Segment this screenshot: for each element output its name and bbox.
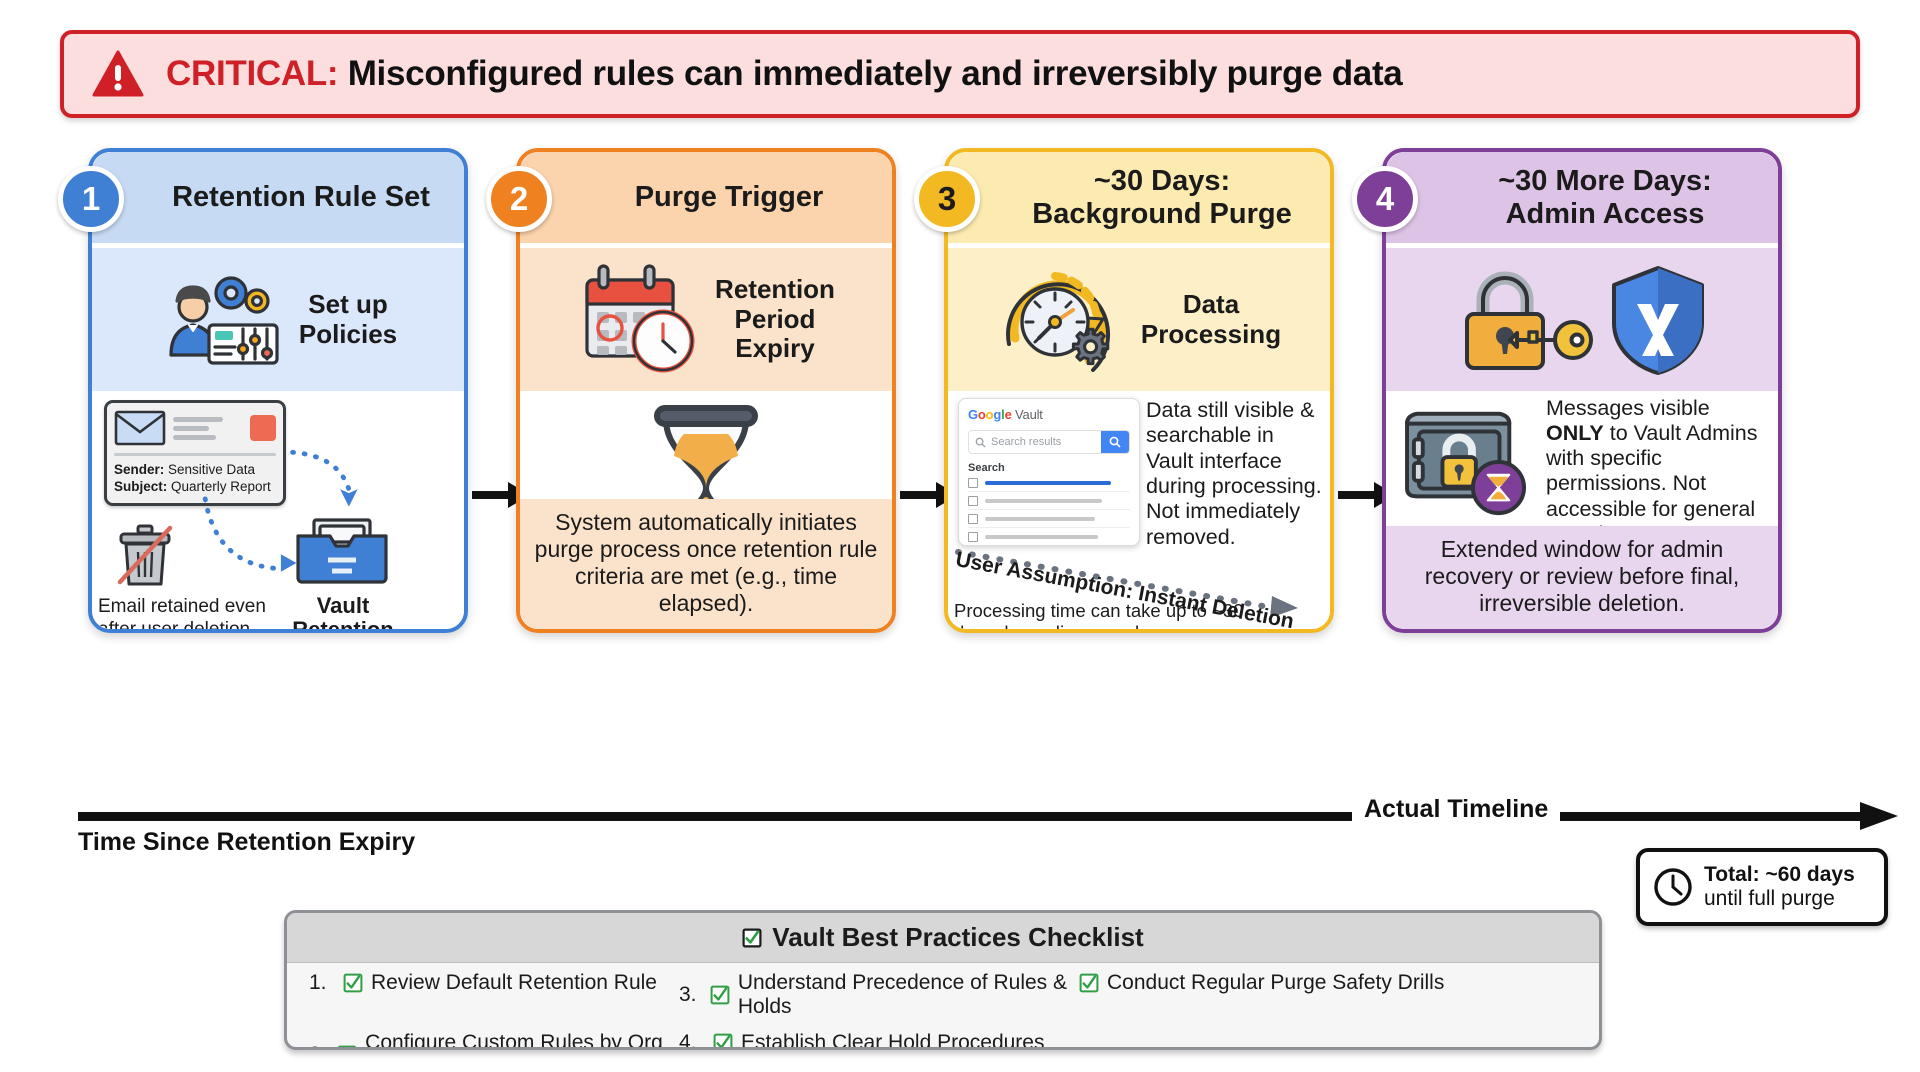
checklist-grid: 1. Review Default Retention Rule 3.: [287, 963, 1599, 1050]
panel-4-note-part1: Messages visible: [1546, 396, 1710, 420]
vault-search-button[interactable]: [1101, 431, 1129, 453]
panel-3-mid: DataProcessing: [948, 248, 1330, 396]
checkbox-checked-icon[interactable]: [713, 1033, 733, 1050]
trash-disabled-icon: [114, 522, 176, 588]
panel-4-note-emphasis: ONLY: [1546, 421, 1604, 445]
checklist-cell[interactable]: Conduct Regular Purge Safety Drills: [1079, 971, 1444, 995]
admin-user-gears-icon: [159, 267, 287, 373]
email-line: [173, 426, 209, 431]
calendar-clock-icon: [577, 262, 703, 378]
best-practices-checklist: Vault Best Practices Checklist 1. Review…: [284, 910, 1602, 1050]
critical-banner: CRITICAL: Misconfigured rules can immedi…: [60, 30, 1860, 118]
total-duration-title: Total: ~60 days: [1704, 863, 1855, 886]
panel-4-title: ~30 More Days:Admin Access: [1386, 152, 1778, 248]
clock-icon: [1652, 866, 1694, 908]
row-checkbox[interactable]: [968, 496, 978, 506]
banner-message: Misconfigured rules can immediately and …: [338, 54, 1402, 93]
email-line: [173, 435, 216, 440]
vault-result-row[interactable]: [968, 492, 1130, 510]
total-duration-sub: until full purge: [1704, 887, 1835, 910]
timeline-left-label: Time Since Retention Expiry: [78, 828, 415, 857]
panel-2-mid-label: RetentionPeriodExpiry: [715, 275, 835, 364]
checklist-item-number: 3.: [679, 983, 702, 1007]
panel-3-title: ~30 Days:Background Purge: [948, 152, 1330, 248]
panel-4-foot: Extended window for admin recovery or re…: [1386, 526, 1778, 629]
checklist-cell[interactable]: 2. Configure Custom Rules by Org Unit/Gr…: [309, 1031, 679, 1050]
checklist-cell[interactable]: 4. Establish Clear Hold Procedures: [679, 1031, 1079, 1050]
clock-gear-refresh-icon: [997, 260, 1129, 380]
vault-search-placeholder: Search results: [991, 436, 1061, 448]
row-bar: [985, 535, 1098, 539]
panel-4-body: Messages visible ONLY to Vault Admins wi…: [1386, 396, 1778, 526]
panel-1-mid-label: Set upPolicies: [299, 290, 397, 349]
checkbox-checked-icon[interactable]: [337, 1045, 357, 1050]
panel-4-note: Messages visible ONLY to Vault Admins wi…: [1546, 396, 1758, 526]
checkbox-checked-icon[interactable]: [1079, 973, 1099, 993]
warning-triangle-icon: [92, 50, 144, 98]
checkbox-checked-icon[interactable]: [343, 973, 363, 993]
email-sender-value: Sensitive Data: [164, 462, 255, 477]
panel-1-body: Sender: Sensitive Data Subject: Quarterl…: [92, 396, 464, 629]
vault-shield-icon: [1609, 264, 1707, 376]
panel-purge-trigger[interactable]: 2 Purge Trigger: [516, 148, 896, 633]
checkbox-checked-icon: [742, 928, 762, 948]
safe-hourglass-icon: [1398, 402, 1538, 520]
envelope-icon: [114, 410, 166, 446]
checklist-item-label: Establish Clear Hold Procedures: [741, 1031, 1044, 1050]
email-sender-label: Sender:: [114, 462, 164, 477]
email-subject-label: Subject:: [114, 479, 167, 494]
vault-drawer-icon: [294, 514, 390, 592]
checkbox-checked-icon[interactable]: [710, 985, 730, 1005]
vault-wordmark: Vault: [1015, 407, 1043, 422]
row-checkbox[interactable]: [968, 478, 978, 488]
row-bar: [985, 517, 1095, 521]
divider: [114, 453, 276, 456]
checklist-item-label: Conduct Regular Purge Safety Drills: [1107, 971, 1444, 995]
hourglass-icon: [641, 404, 771, 499]
panel-badge-3: 3: [914, 166, 980, 232]
email-subject: Subject: Quarterly Report: [114, 479, 276, 496]
email-subject-value: Quarterly Report: [167, 479, 271, 494]
checklist-row: 2. Configure Custom Rules by Org Unit/Gr…: [309, 1031, 1581, 1050]
panel-1-title: Retention Rule Set: [92, 152, 464, 248]
panel-2-title: Purge Trigger: [520, 152, 892, 248]
vault-result-row[interactable]: [968, 510, 1130, 528]
row-checkbox[interactable]: [968, 514, 978, 524]
checklist-item-number: 1.: [309, 971, 335, 995]
panel-background-purge[interactable]: 3 ~30 Days:Background Purge: [944, 148, 1334, 633]
panel-retention-rule-set[interactable]: 1 Retention Rule Set: [88, 148, 468, 633]
row-bar: [985, 481, 1111, 485]
panel-3-mid-label: DataProcessing: [1141, 290, 1281, 349]
checklist-title: Vault Best Practices Checklist: [772, 922, 1143, 953]
panel-2-mid: RetentionPeriodExpiry: [520, 248, 892, 396]
google-vault-logo: Google Vault: [968, 407, 1130, 422]
panel-2-body: [520, 396, 892, 499]
infographic-canvas: CRITICAL: Misconfigured rules can immedi…: [0, 0, 1920, 1072]
panel-badge-2: 2: [486, 166, 552, 232]
vault-result-row[interactable]: [968, 528, 1130, 545]
checklist-item-label: Review Default Retention Rule: [371, 971, 657, 995]
checklist-cell[interactable]: 3. Understand Precedence of Rules & Hold…: [679, 971, 1079, 1019]
checklist-header: Vault Best Practices Checklist: [287, 913, 1599, 963]
checklist-item-number: 2.: [309, 1043, 329, 1050]
panel-3-body: Google Vault Search results: [948, 396, 1330, 629]
magnifier-icon: [975, 437, 986, 448]
checklist-item-label: Understand Precedence of Rules & Holds: [738, 971, 1079, 1019]
magnifier-icon: [1109, 436, 1121, 448]
timeline-right-label: Actual Timeline: [1352, 795, 1560, 824]
row-bar: [985, 499, 1102, 503]
email-line: [173, 417, 223, 422]
email-card: Sender: Sensitive Data Subject: Quarterl…: [104, 400, 286, 506]
panel-4-mid: [1386, 248, 1778, 396]
checklist-item-number: 4.: [679, 1031, 705, 1050]
checklist-cell[interactable]: 1. Review Default Retention Rule: [309, 971, 679, 995]
timeline-arrowhead: [1860, 796, 1902, 836]
panel-admin-access[interactable]: 4 ~30 More Days:Admin Access: [1382, 148, 1782, 633]
vault-search-bar[interactable]: Search results: [968, 430, 1130, 454]
total-duration-text: Total: ~60 days until full purge: [1704, 863, 1855, 912]
panel-1-mid: Set upPolicies: [92, 248, 464, 396]
vault-section-label: Search: [968, 462, 1130, 474]
banner-critical-prefix: CRITICAL:: [166, 54, 338, 93]
panel-3-note: Data still visible & searchable in Vault…: [1146, 398, 1324, 550]
google-vault-mock[interactable]: Google Vault Search results: [958, 398, 1140, 546]
email-flag: [250, 415, 276, 441]
vault-result-row[interactable]: [968, 474, 1130, 492]
checklist-row: 1. Review Default Retention Rule 3.: [309, 971, 1581, 1019]
panel-badge-1: 1: [58, 166, 124, 232]
total-duration-box: Total: ~60 days until full purge: [1636, 848, 1888, 926]
panel-1-note: Email retained even after user deletion.…: [98, 596, 276, 629]
checklist-item-label: Configure Custom Rules by Org Unit/Group: [365, 1031, 679, 1050]
banner-text: CRITICAL: Misconfigured rules can immedi…: [166, 54, 1402, 94]
row-checkbox[interactable]: [968, 532, 978, 542]
vault-retention-label: VaultRetention: [268, 594, 418, 629]
panel-2-foot: System automatically initiates purge pro…: [520, 499, 892, 630]
timeline-axis: [78, 812, 1878, 821]
email-sender: Sender: Sensitive Data: [114, 462, 276, 479]
panel-3-sub-note: Processing time can take up to ~30 days …: [954, 600, 1254, 629]
padlock-key-icon: [1457, 260, 1597, 380]
panel-badge-4: 4: [1352, 166, 1418, 232]
